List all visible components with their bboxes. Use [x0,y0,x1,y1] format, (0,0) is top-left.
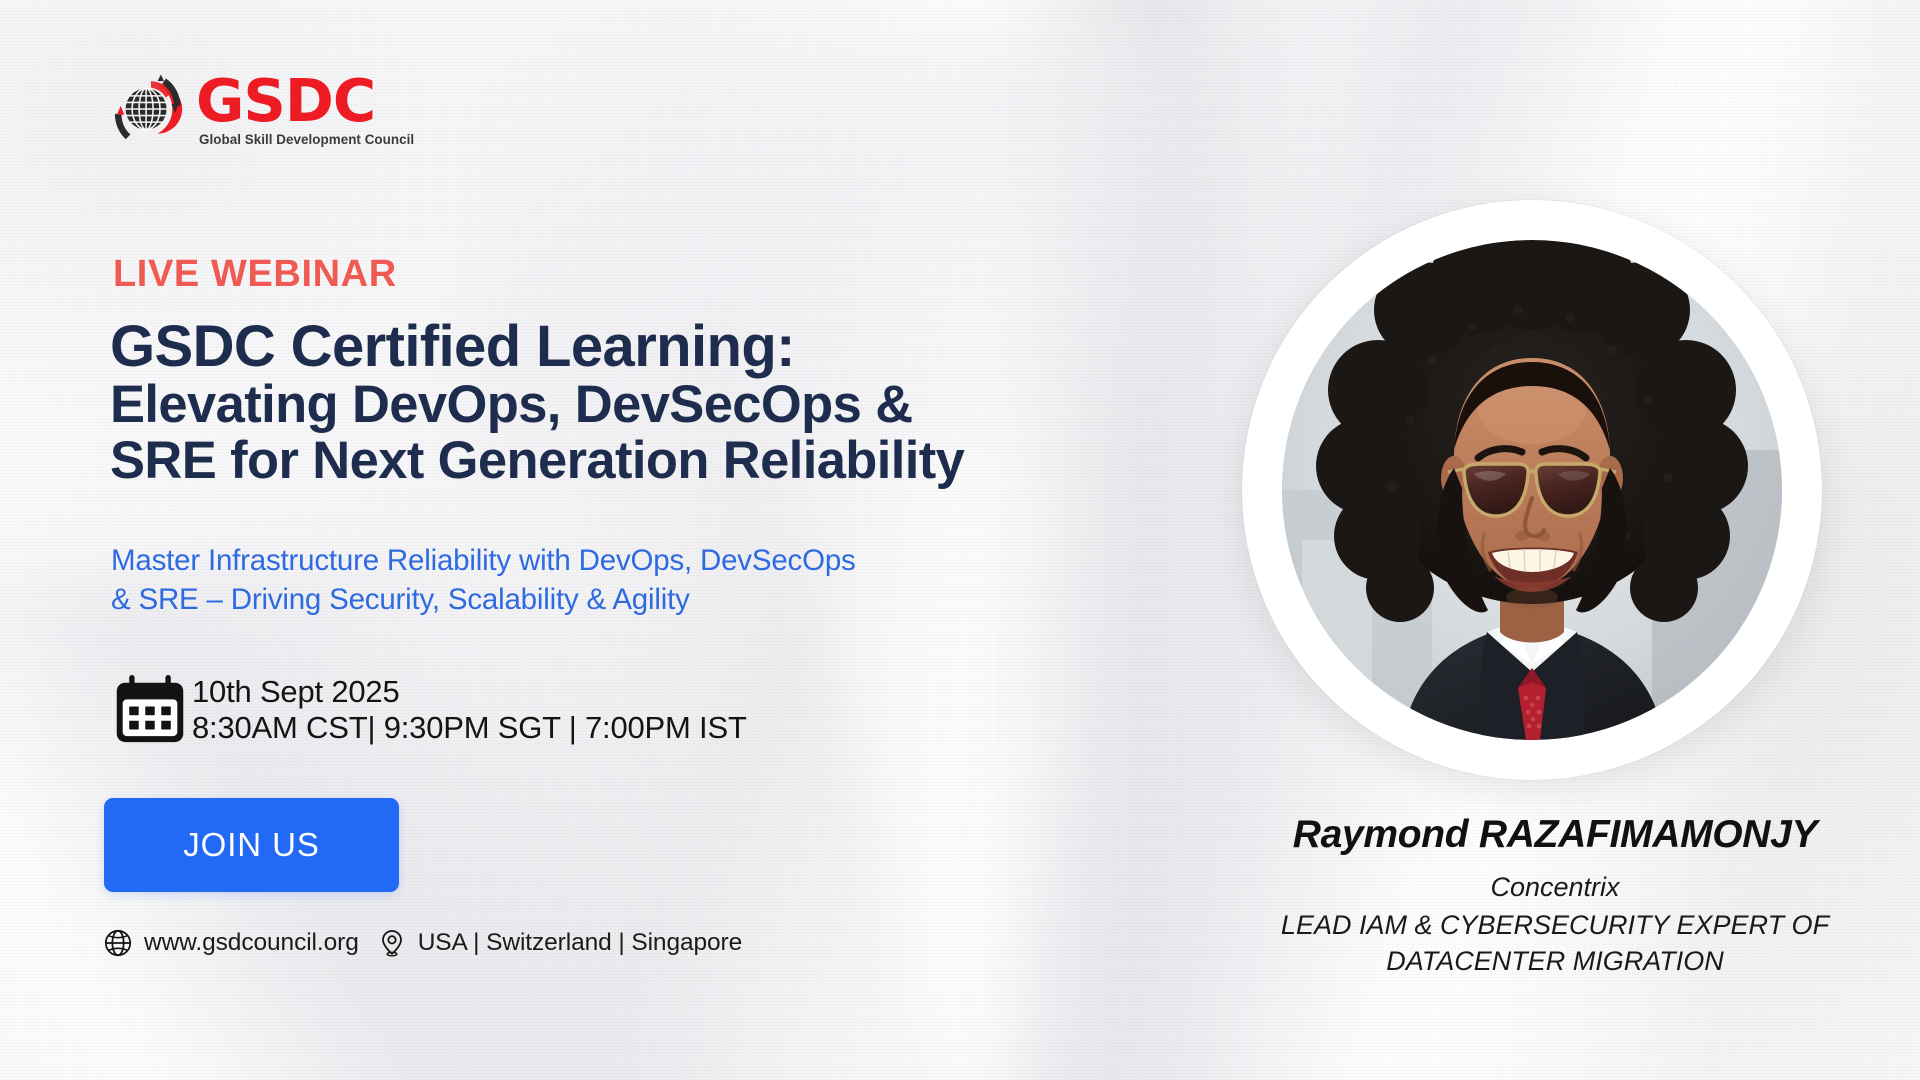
logo-wordmark: GSDC [196,72,414,130]
website-link[interactable]: www.gsdcouncil.org [103,928,359,958]
webinar-date: 10th Sept 2025 [192,674,747,710]
locations-item: USA | Switzerland | Singapore [377,928,742,958]
live-webinar-eyebrow: LIVE WEBINAR [113,253,397,296]
title-line-3: SRE for Next Generation Reliability [110,433,1190,488]
left-content-column: GSDC Global Skill Development Council LI… [0,0,1200,1080]
speaker-portrait-illustration [1282,240,1782,740]
title-line-1: GSDC Certified Learning: [110,316,1190,377]
webinar-banner: GSDC Global Skill Development Council LI… [0,0,1920,1080]
website-label: www.gsdcouncil.org [144,929,359,957]
subtitle-line-2: & SRE – Driving Security, Scalability & … [111,581,1071,620]
speaker-info: Raymond RAZAFIMAMONJY Concentrix LEAD IA… [1190,812,1920,980]
subtitle-line-1: Master Infrastructure Reliability with D… [111,542,1071,581]
join-us-button[interactable]: JOIN US [104,798,399,892]
footer-bar: www.gsdcouncil.org USA | Switzerland | S… [103,928,742,958]
locations-label: USA | Switzerland | Singapore [418,929,742,957]
webinar-subtitle: Master Infrastructure Reliability with D… [111,542,1071,619]
speaker-role-line-2: DATACENTER MIGRATION [1214,943,1896,979]
right-speaker-column: Raymond RAZAFIMAMONJY Concentrix LEAD IA… [1190,0,1920,1080]
webinar-times: 8:30AM CST| 9:30PM SGT | 7:00PM IST [192,710,747,746]
speaker-role: LEAD IAM & CYBERSECURITY EXPERT OF DATAC… [1190,907,1920,979]
title-line-2: Elevating DevOps, DevSecOps & [110,377,1190,432]
avatar [1282,240,1782,740]
speaker-portrait-frame [1242,200,1822,780]
speaker-role-line-1: LEAD IAM & CYBERSECURITY EXPERT OF [1214,907,1896,943]
logo-tagline: Global Skill Development Council [199,132,414,147]
globe-icon [103,928,133,958]
globe-orbit-icon [110,68,192,150]
location-pin-icon [377,928,407,958]
calendar-icon [112,672,188,748]
gsdc-logo[interactable]: GSDC Global Skill Development Council [110,68,414,150]
speaker-name: Raymond RAZAFIMAMONJY [1190,812,1920,859]
webinar-title: GSDC Certified Learning: Elevating DevOp… [110,316,1190,488]
schedule-block: 10th Sept 2025 8:30AM CST| 9:30PM SGT | … [112,672,747,748]
speaker-company: Concentrix [1190,871,1920,903]
